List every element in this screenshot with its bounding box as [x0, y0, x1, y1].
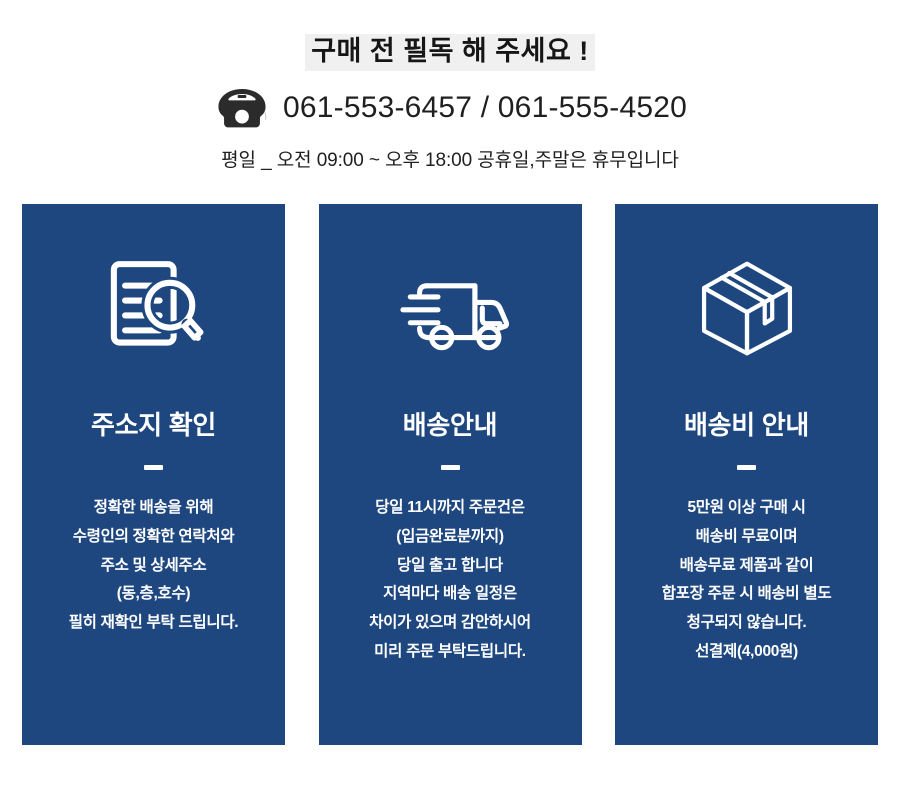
- card-body-line: 정확한 배송을 위해: [69, 494, 239, 523]
- card-body-line: 배송무료 제품과 같이: [662, 552, 832, 581]
- info-card-address-check: 주소지 확인 정확한 배송을 위해 수령인의 정확한 연락처와 주소 및 상세주…: [22, 204, 285, 745]
- card-body-line: 차이가 있으며 감안하시어: [369, 609, 531, 638]
- contact-phone-row: 061-553-6457 / 061-555-4520: [0, 87, 900, 129]
- delivery-truck-icon: [390, 252, 510, 364]
- card-body: 당일 11시까지 주문건은 (입금완료분까지) 당일 출고 합니다 지역마다 배…: [359, 494, 541, 666]
- notice-header: 구매 전 필독 해 주세요 !: [0, 0, 900, 172]
- card-title: 배송비 안내: [684, 410, 809, 441]
- page-title-wrapper: 구매 전 필독 해 주세요 !: [0, 34, 900, 71]
- card-divider: [441, 465, 460, 470]
- shipping-notice-page: 구매 전 필독 해 주세요 !: [0, 0, 900, 792]
- card-body-line: 수령인의 정확한 연락처와: [69, 523, 239, 552]
- card-title: 주소지 확인: [91, 410, 216, 441]
- card-body-line: (입금완료분까지): [369, 523, 531, 552]
- card-body-line: 주소 및 상세주소: [69, 552, 239, 581]
- telephone-icon: [213, 87, 271, 129]
- info-card-delivery-guide: 배송안내 당일 11시까지 주문건은 (입금완료분까지) 당일 출고 합니다 지…: [319, 204, 582, 745]
- card-body-line: 지역마다 배송 일정은: [369, 580, 531, 609]
- card-divider: [144, 465, 163, 470]
- page-title: 구매 전 필독 해 주세요 !: [305, 34, 595, 71]
- card-body-line: 미리 주문 부탁드립니다.: [369, 638, 531, 667]
- card-body-line: 5만원 이상 구매 시: [662, 494, 832, 523]
- document-magnifier-icon: [98, 252, 210, 364]
- card-body-line: 당일 출고 합니다: [369, 552, 531, 581]
- card-body: 5만원 이상 구매 시 배송비 무료이며 배송무료 제품과 같이 합포장 주문 …: [652, 494, 842, 666]
- info-card-shipping-fee: 배송비 안내 5만원 이상 구매 시 배송비 무료이며 배송무료 제품과 같이 …: [615, 204, 878, 745]
- card-body-line: 당일 11시까지 주문건은: [369, 494, 531, 523]
- card-body-line: 필히 재확인 부탁 드립니다.: [69, 609, 239, 638]
- info-card-list: 주소지 확인 정확한 배송을 위해 수령인의 정확한 연락처와 주소 및 상세주…: [22, 204, 878, 745]
- card-body-line: 선결제(4,000원): [662, 638, 832, 667]
- package-box-icon: [691, 252, 803, 364]
- card-body-line: 청구되지 않습니다.: [662, 609, 832, 638]
- card-body: 정확한 배송을 위해 수령인의 정확한 연락처와 주소 및 상세주소 (동,층,…: [59, 494, 249, 637]
- card-body-line: 배송비 무료이며: [662, 523, 832, 552]
- business-hours: 평일 _ 오전 09:00 ~ 오후 18:00 공휴일,주말은 휴무입니다: [0, 145, 900, 172]
- card-title: 배송안내: [403, 410, 497, 441]
- card-divider: [737, 465, 756, 470]
- phone-numbers: 061-553-6457 / 061-555-4520: [283, 91, 687, 125]
- card-body-line: 합포장 주문 시 배송비 별도: [662, 580, 832, 609]
- card-body-line: (동,층,호수): [69, 580, 239, 609]
